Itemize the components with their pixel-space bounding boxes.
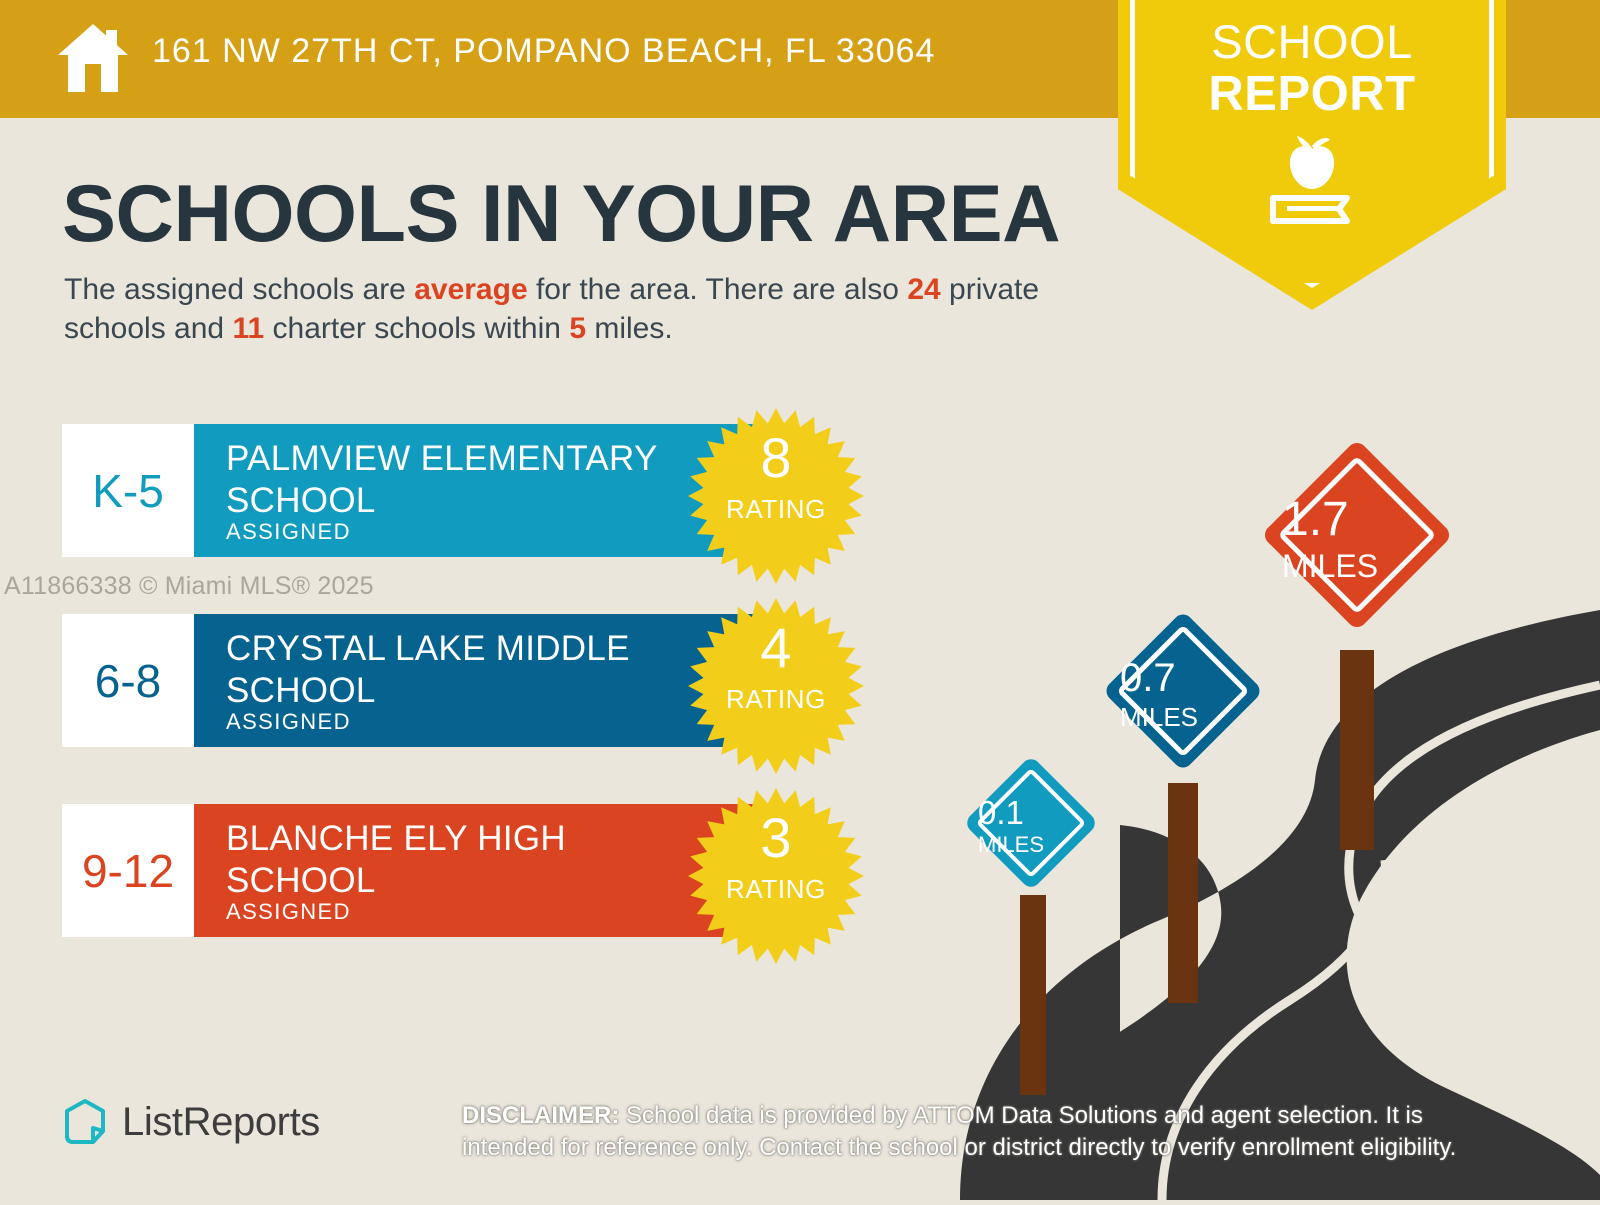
sign-post: [1340, 650, 1374, 850]
grade-range-box: 6-8: [62, 614, 194, 747]
school-list: K-5 PALMVIEW ELEMENTARY SCHOOL ASSIGNED …: [62, 424, 772, 994]
summary-highlight-charter-count: 11: [232, 312, 264, 345]
school-bar: CRYSTAL LAKE MIDDLE SCHOOL ASSIGNED: [194, 614, 772, 747]
rating-label: RATING: [688, 874, 864, 905]
summary-text: The assigned schools are average for the…: [64, 270, 1104, 348]
mls-watermark: A11866338 © Miami MLS® 2025: [4, 572, 374, 601]
summary-part-5: miles.: [586, 312, 673, 345]
badge-line-report: REPORT: [1118, 66, 1506, 122]
summary-highlight-radius: 5: [569, 312, 586, 345]
school-row[interactable]: K-5 PALMVIEW ELEMENTARY SCHOOL ASSIGNED …: [62, 424, 772, 557]
rating-badge: 4 RATING: [688, 598, 864, 774]
rating-label: RATING: [688, 684, 864, 715]
school-report-badge: SCHOOL REPORT: [1118, 0, 1506, 310]
grade-range-label: 6-8: [95, 654, 161, 708]
school-bar: PALMVIEW ELEMENTARY SCHOOL ASSIGNED: [194, 424, 772, 557]
disclaimer-label: DISCLAIMER:: [462, 1102, 619, 1129]
rating-badge: 8 RATING: [688, 408, 864, 584]
school-name: CRYSTAL LAKE MIDDLE SCHOOL: [226, 628, 696, 712]
summary-part-4: charter schools within: [264, 312, 569, 345]
grade-range-box: K-5: [62, 424, 194, 557]
summary-highlight-rating: average: [414, 273, 527, 306]
rating-badge: 3 RATING: [688, 788, 864, 964]
grade-range-box: 9-12: [62, 804, 194, 937]
sign-post: [1020, 895, 1046, 1095]
apple-book-icon: [1259, 132, 1365, 228]
school-status: ASSIGNED: [226, 899, 351, 925]
rating-value: 3: [688, 810, 864, 866]
summary-part-1: The assigned schools are: [64, 273, 414, 306]
listreports-house-icon: [62, 1098, 108, 1146]
home-icon: [56, 22, 130, 94]
school-name: PALMVIEW ELEMENTARY SCHOOL: [226, 438, 696, 522]
listreports-logo[interactable]: ListReports: [62, 1098, 320, 1146]
school-row[interactable]: 6-8 CRYSTAL LAKE MIDDLE SCHOOL ASSIGNED …: [62, 614, 772, 747]
badge-line-school: SCHOOL: [1118, 14, 1506, 69]
listreports-logo-text: ListReports: [122, 1100, 320, 1145]
school-status: ASSIGNED: [226, 709, 351, 735]
school-row[interactable]: 9-12 BLANCHE ELY HIGH SCHOOL ASSIGNED 3 …: [62, 804, 772, 937]
disclaimer-text: DISCLAIMER: School data is provided by A…: [462, 1100, 1492, 1164]
distance-illustration: 1.7 MILES 0.7 MILES 0.1 MILES: [930, 430, 1600, 1200]
school-name: BLANCHE ELY HIGH SCHOOL: [226, 818, 696, 902]
rating-value: 4: [688, 620, 864, 676]
sign-post: [1168, 783, 1198, 1003]
property-address: 161 NW 27TH CT, POMPANO BEACH, FL 33064: [152, 32, 935, 71]
grade-range-label: 9-12: [82, 844, 174, 898]
summary-part-2: for the area. There are also: [528, 273, 908, 306]
grade-range-label: K-5: [92, 464, 164, 518]
rating-value: 8: [688, 430, 864, 486]
school-bar: BLANCHE ELY HIGH SCHOOL ASSIGNED: [194, 804, 772, 937]
page-title: SCHOOLS IN YOUR AREA: [62, 168, 1060, 261]
school-status: ASSIGNED: [226, 519, 351, 545]
summary-highlight-private-count: 24: [907, 273, 940, 306]
rating-label: RATING: [688, 494, 864, 525]
